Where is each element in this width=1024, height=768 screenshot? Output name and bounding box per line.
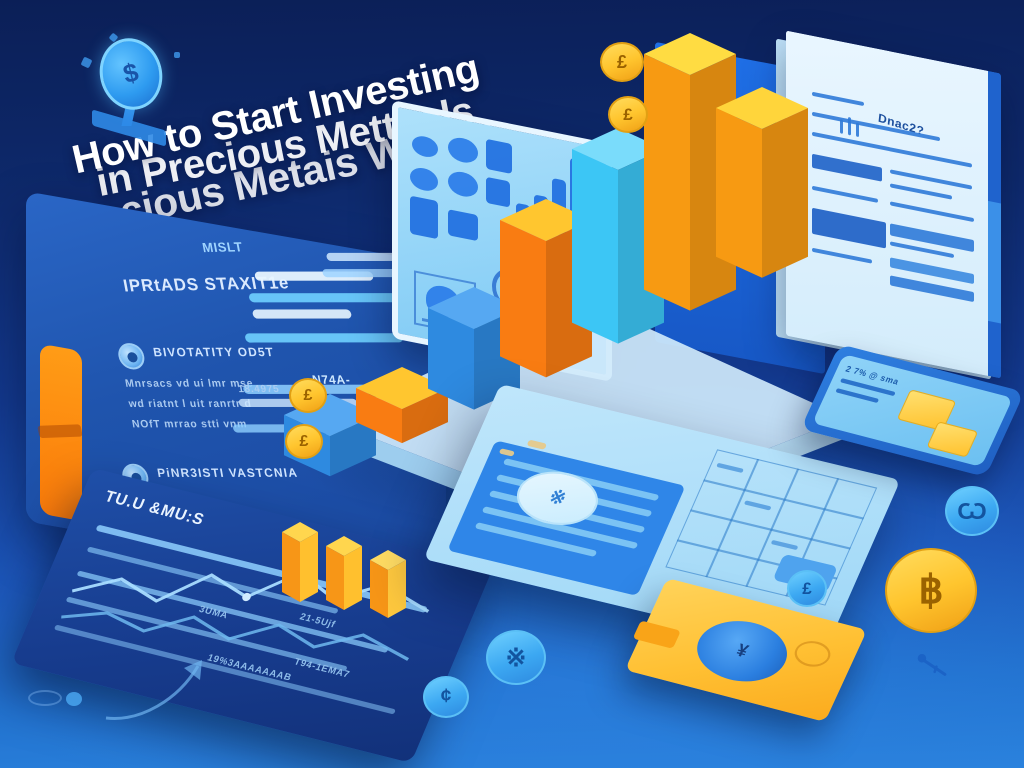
- ground-ellipse: [28, 690, 62, 706]
- coin-glyph: £: [289, 378, 327, 413]
- wallet-ring-icon: [790, 637, 835, 670]
- panel-ghost-value: 18.4975: [237, 384, 280, 395]
- coin-glyph: ฿: [885, 548, 977, 633]
- blue-coin-bottom-1: ※: [486, 630, 546, 685]
- coin-glyph: ¢: [423, 676, 469, 718]
- bullet-line: Mnrsacs vd ui lmr mse: [124, 377, 254, 389]
- blue-coin-wallet: £: [787, 570, 827, 607]
- blue-coin-right: Ѡ: [945, 486, 999, 536]
- panel-subheading: MISLT: [201, 239, 244, 255]
- mini-bar-group: [278, 488, 438, 618]
- blue-coin-bottom-2: ¢: [423, 676, 469, 718]
- document-tick: [856, 123, 859, 138]
- gold-coin-top-2: £: [608, 96, 648, 133]
- document-line: [812, 186, 878, 203]
- bullet-line: NOfT mrrao stti vnm: [131, 418, 248, 430]
- document-line: [890, 183, 952, 199]
- gold-coin-right: ฿: [885, 548, 977, 633]
- ground-dot: [66, 692, 82, 706]
- key-icon: [916, 652, 950, 678]
- document-tick: [840, 119, 843, 134]
- coin-glyph: £: [285, 424, 323, 459]
- curved-arrow-icon: [100, 652, 230, 732]
- coin-glyph: Ѡ: [945, 486, 999, 536]
- screen-shape: [410, 166, 438, 194]
- spark-icon: [174, 52, 180, 58]
- gold-coin-mid-2: £: [285, 424, 323, 459]
- coin-icon: $: [92, 32, 170, 117]
- screen-shape: [486, 139, 512, 174]
- wallet-glyph: ¥: [733, 640, 752, 662]
- document-tab: [988, 201, 1001, 324]
- wallet-strap: [633, 620, 681, 648]
- bullet-heading: PiNR3ISTI VASTCNIA: [156, 466, 299, 480]
- document-line: [812, 92, 864, 106]
- screen-shape: [412, 134, 438, 159]
- panel-accent-bar: [40, 344, 82, 521]
- bar-7: [716, 87, 816, 286]
- document-block: [812, 154, 882, 182]
- gold-coin-mid-1: £: [289, 378, 327, 413]
- tablet-coin-glyph: ※: [545, 486, 569, 511]
- wallet-disc: ¥: [686, 612, 798, 690]
- screen-shape: [410, 196, 438, 240]
- coin-glyph: £: [600, 42, 644, 82]
- document-block: [812, 208, 886, 249]
- coin-glyph: £: [787, 570, 827, 607]
- currency-glyph: $: [120, 57, 142, 91]
- document-line: [812, 248, 872, 264]
- bullet-line: wd riatnt l uit ranrtr d: [128, 398, 253, 410]
- document-tick: [848, 117, 851, 136]
- illustration-canvas: Precious Metais Wisely in Precious Metta…: [0, 0, 1024, 768]
- tablet-grid: [665, 449, 877, 605]
- screen-shape: [448, 169, 478, 199]
- coin-glyph: ※: [486, 630, 546, 685]
- bullet-heading: BIVOTATITY OD5T: [152, 345, 275, 359]
- accent-tick: [37, 424, 83, 438]
- document-line: [890, 201, 974, 222]
- coin-on-stand: $: [78, 36, 198, 146]
- info-circle-icon: [116, 343, 146, 369]
- screen-shape: [448, 135, 478, 165]
- screen-shape: [448, 209, 478, 241]
- gold-coin-top-1: £: [600, 42, 644, 82]
- spark-icon: [81, 57, 93, 69]
- coin-glyph: £: [608, 96, 648, 133]
